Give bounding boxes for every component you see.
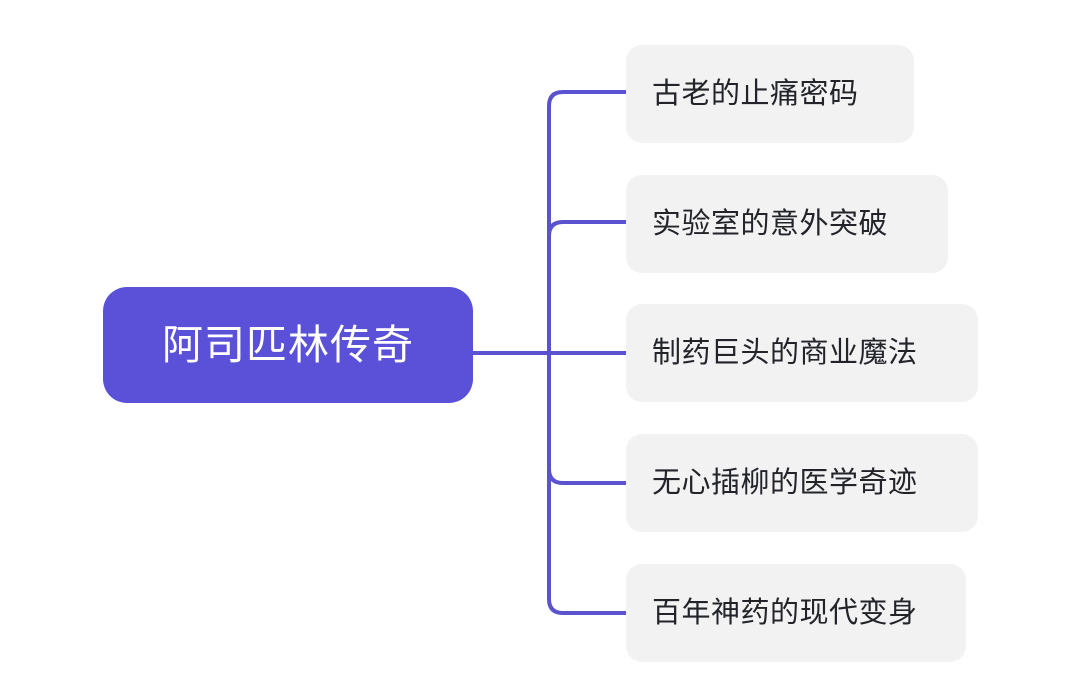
branch-node-label: 古老的止痛密码 bbox=[652, 80, 859, 109]
branch-node-5[interactable]: 百年神药的现代变身 bbox=[626, 564, 966, 662]
connector-branch-2 bbox=[549, 222, 626, 236]
branch-node-2[interactable]: 实验室的意外突破 bbox=[626, 175, 948, 273]
branch-node-label: 制药巨头的商业魔法 bbox=[652, 339, 918, 368]
branch-node-label: 百年神药的现代变身 bbox=[652, 599, 918, 628]
mind-map: 阿司匹林传奇 古老的止痛密码 实验室的意外突破 制药巨头的商业魔法 无心插柳的医… bbox=[0, 0, 1080, 677]
connector-branch-4 bbox=[549, 469, 626, 483]
connector-branch-5 bbox=[549, 599, 626, 613]
branch-node-3[interactable]: 制药巨头的商业魔法 bbox=[626, 304, 978, 402]
branch-node-1[interactable]: 古老的止痛密码 bbox=[626, 45, 914, 143]
root-node-label: 阿司匹林传奇 bbox=[162, 325, 414, 366]
connector-branch-1 bbox=[549, 92, 626, 106]
branch-node-label: 实验室的意外突破 bbox=[652, 210, 888, 239]
branch-node-label: 无心插柳的医学奇迹 bbox=[652, 469, 918, 498]
root-node[interactable]: 阿司匹林传奇 bbox=[103, 287, 473, 403]
branch-node-4[interactable]: 无心插柳的医学奇迹 bbox=[626, 434, 978, 532]
